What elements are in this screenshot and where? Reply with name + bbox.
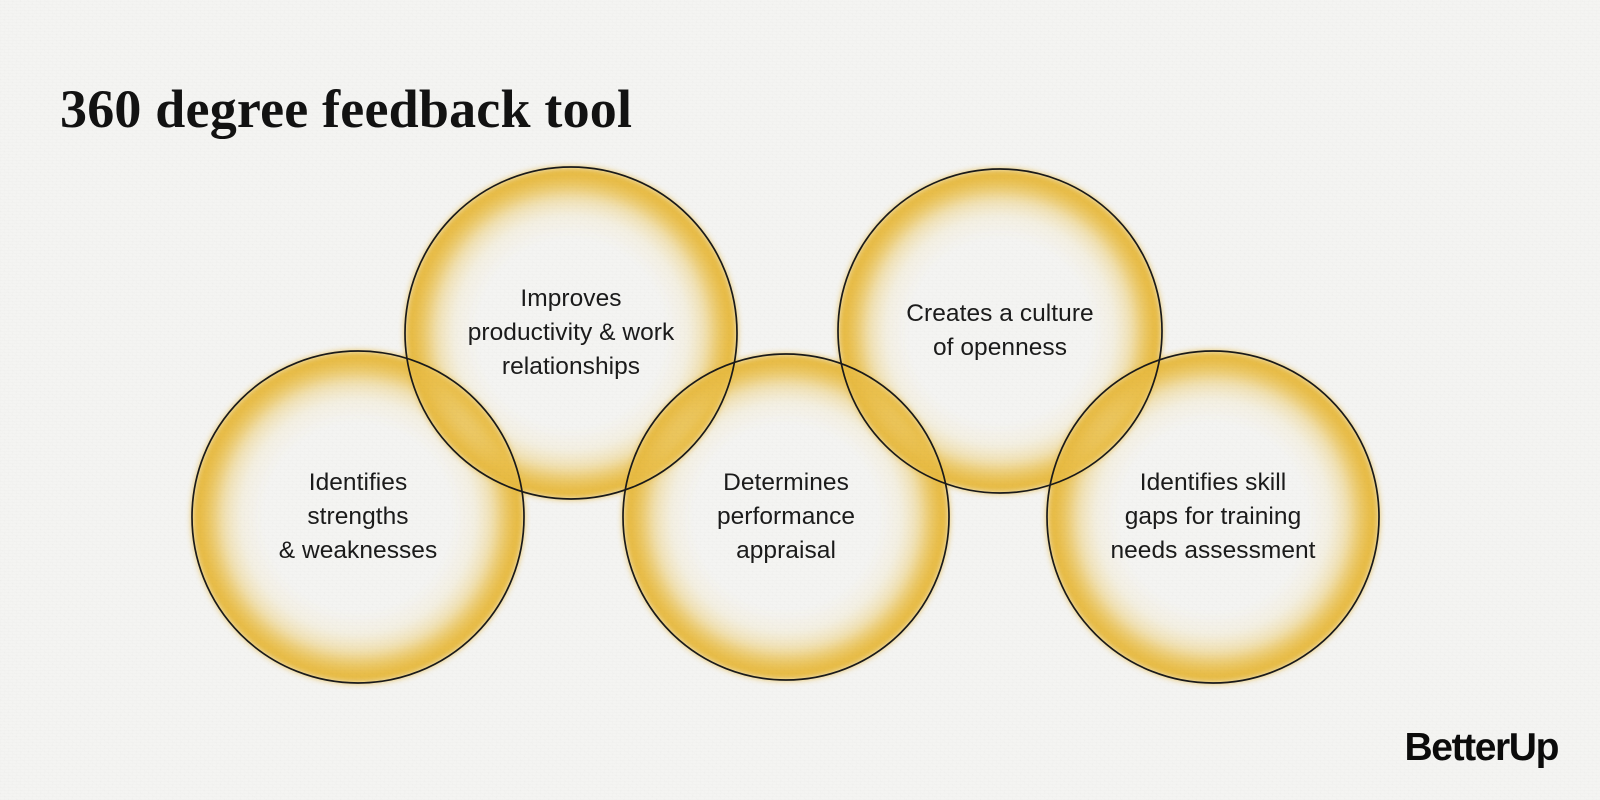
circle-glow-layer xyxy=(192,167,1379,683)
circle-glow xyxy=(1047,351,1379,683)
betterup-logo: BetterUp xyxy=(1405,726,1558,770)
infographic-canvas: 360 degree feedback tool Identifie xyxy=(0,0,1600,800)
overlapping-circles-diagram xyxy=(0,0,1600,800)
